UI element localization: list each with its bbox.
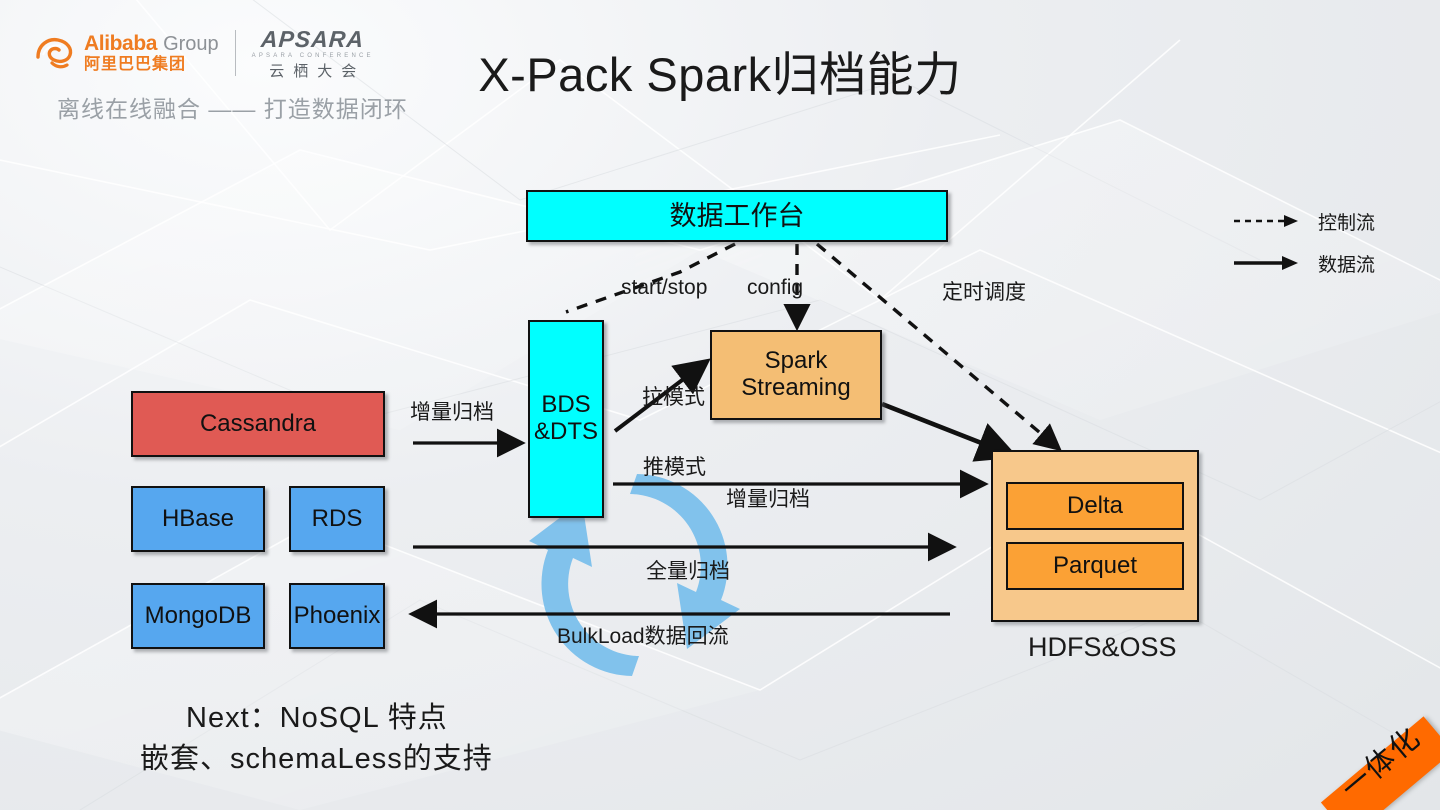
box-source-cassandra[interactable]: Cassandra — [131, 391, 385, 457]
footer-next-line-2: 嵌套、schemaLess的支持 — [140, 735, 493, 777]
box-data-workbench[interactable]: 数据工作台 — [526, 190, 948, 242]
legend-item-control-flow: 控制流 — [1232, 200, 1422, 242]
box-storage-container[interactable] — [991, 450, 1199, 622]
box-source-mongodb[interactable]: MongoDB — [131, 583, 265, 649]
label-full-archive: 全量归档 — [646, 555, 730, 585]
label-incremental-archive-right: 增量归档 — [726, 483, 810, 513]
slide-canvas: Alibaba Group 阿里巴巴集团 APSARA APSARA CONFE… — [0, 0, 1440, 810]
legend-label-control-flow: 控制流 — [1318, 208, 1375, 235]
legend-item-data-flow: 数据流 — [1232, 242, 1422, 284]
page-title: X-Pack Spark归档能力 — [0, 36, 1440, 105]
box-storage-parquet[interactable]: Parquet — [1006, 542, 1184, 590]
label-schedule: 定时调度 — [942, 276, 1026, 306]
box-source-hbase[interactable]: HBase — [131, 486, 265, 552]
label-config: config — [747, 276, 803, 300]
label-push-mode: 推模式 — [643, 451, 706, 481]
legend: 控制流 数据流 — [1232, 200, 1422, 284]
box-spark-streaming[interactable]: Spark Streaming — [710, 330, 882, 420]
dashed-arrow-icon — [1232, 214, 1300, 228]
solid-arrow-icon — [1232, 255, 1300, 271]
legend-label-data-flow: 数据流 — [1318, 250, 1375, 277]
label-incremental-archive-left: 增量归档 — [410, 396, 494, 426]
box-source-rds[interactable]: RDS — [289, 486, 385, 552]
label-start-stop: start/stop — [621, 276, 707, 300]
label-pull-mode: 拉模式 — [642, 381, 705, 411]
box-source-phoenix[interactable]: Phoenix — [289, 583, 385, 649]
box-bds-dts[interactable]: BDS &DTS — [528, 320, 604, 518]
storage-caption: HDFS&OSS — [1028, 632, 1177, 663]
label-bulkload: BulkLoad数据回流 — [557, 620, 729, 650]
box-storage-delta[interactable]: Delta — [1006, 482, 1184, 530]
footer-next-line-1: Next：NoSQL 特点 — [186, 694, 448, 736]
